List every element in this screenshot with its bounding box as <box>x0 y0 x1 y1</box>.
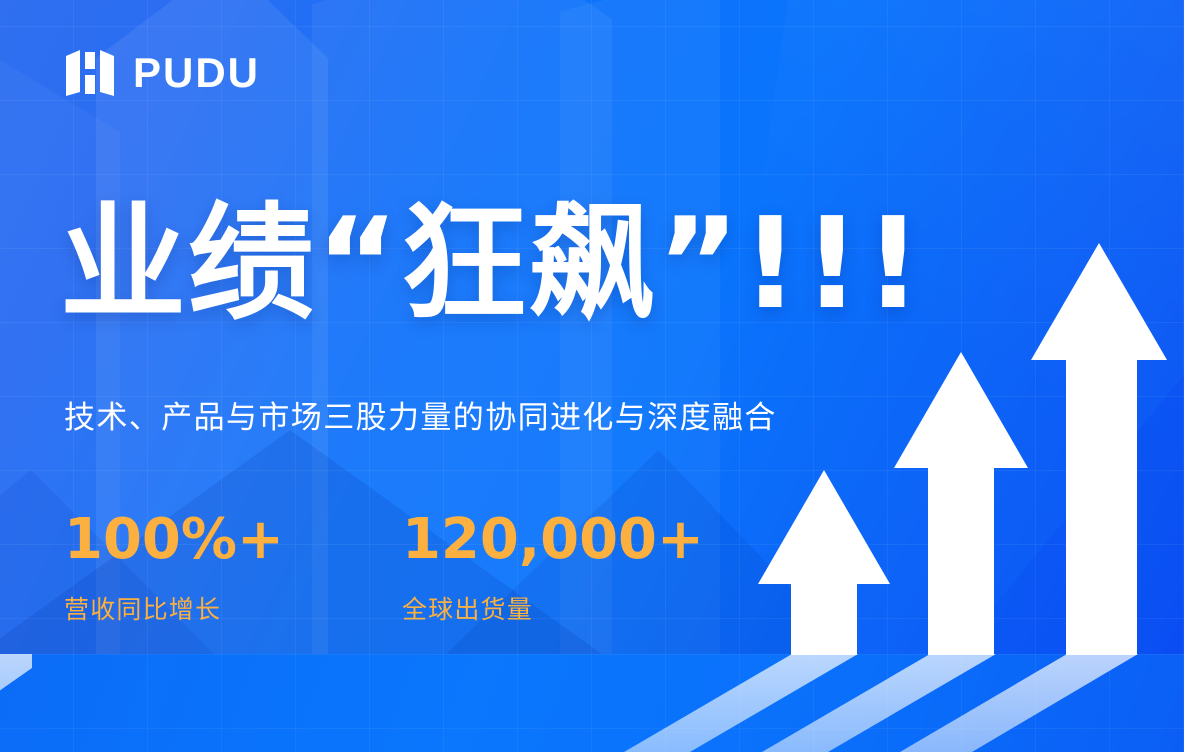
stat-value-revenue: 100%+ <box>64 512 284 568</box>
headline-quote-close: ” <box>657 190 742 337</box>
growth-arrow-large-head <box>1031 243 1167 360</box>
brand-logo: PUDU <box>64 48 260 98</box>
stat-value-shipments: 120,000+ <box>402 512 704 568</box>
growth-arrow-small-head <box>758 470 890 584</box>
ground-plane <box>0 654 1184 752</box>
growth-arrow-large-shaft <box>1066 359 1137 655</box>
stat-block-revenue: 100%+ 营收同比增长 <box>64 512 284 626</box>
subtitle: 技术、产品与市场三股力量的协同进化与深度融合 <box>64 398 777 438</box>
growth-arrow-small-shaft <box>791 583 857 655</box>
growth-arrow-medium-shaft <box>928 467 994 655</box>
ground-grid <box>0 654 1184 752</box>
headline-prefix: 业绩 <box>60 190 316 337</box>
promo-banner: PUDU 业绩“狂飙”!!! 技术、产品与市场三股力量的协同进化与深度融合 10… <box>0 0 1184 752</box>
stat-label-revenue: 营收同比增长 <box>64 590 284 626</box>
brand-name: PUDU <box>133 52 260 94</box>
headline-quote-open: “ <box>316 190 401 337</box>
headline-emphasis: 狂飙 <box>401 190 657 337</box>
headline-exclamation: !!! <box>742 190 926 337</box>
stat-label-shipments: 全球出货量 <box>402 590 704 626</box>
headline: 业绩“狂飙”!!! <box>60 196 926 332</box>
pudu-logo-mark-icon <box>64 48 116 98</box>
growth-arrow-medium-head <box>894 352 1028 468</box>
stat-block-shipments: 120,000+ 全球出货量 <box>402 512 704 626</box>
stats-row: 100%+ 营收同比增长 120,000+ 全球出货量 <box>64 512 704 626</box>
